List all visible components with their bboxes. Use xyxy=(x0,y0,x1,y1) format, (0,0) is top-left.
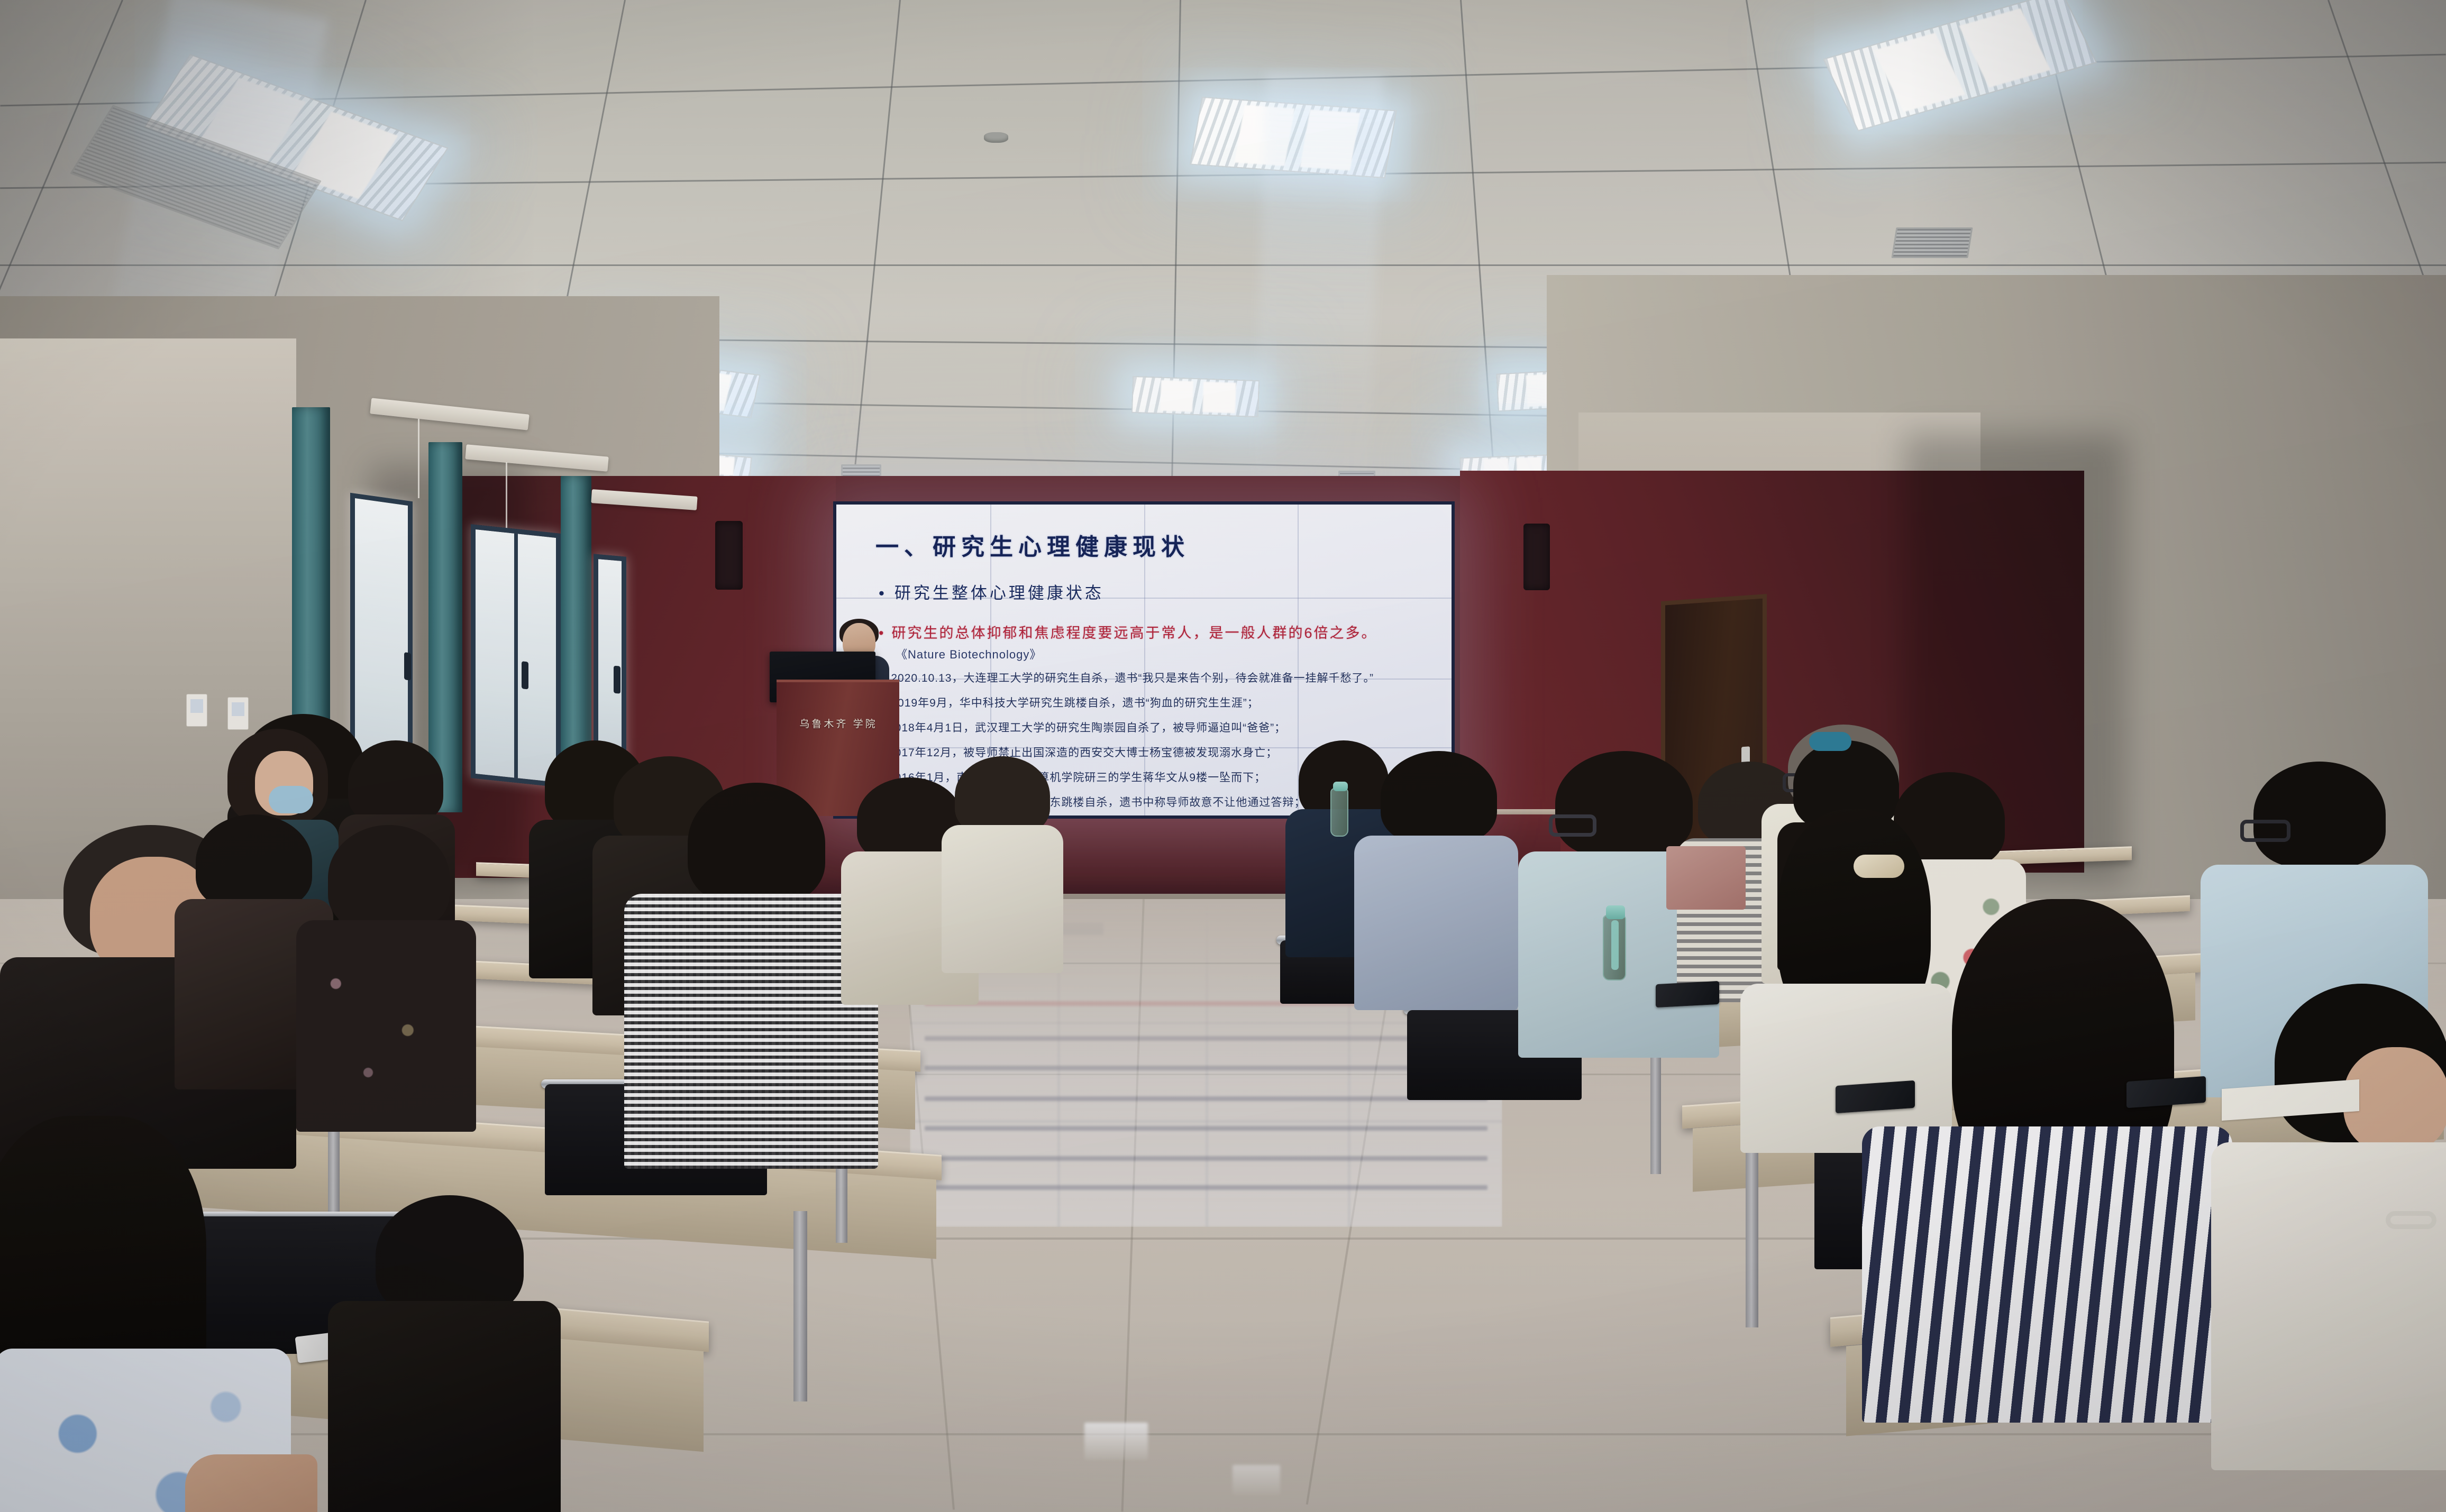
audience-member-striped-blouse xyxy=(1862,899,2232,1407)
audience-member-white-top xyxy=(2211,984,2446,1460)
slide-list-item: 2019年9月，华中科技大学研究生跳楼自杀，遗书“狗血的研究生生涯”； xyxy=(881,694,1436,710)
podium-name-plate: 乌鲁木齐 学院 xyxy=(784,715,893,734)
wall-speaker xyxy=(1523,524,1550,590)
smartphone[interactable] xyxy=(1656,981,1719,1007)
slide-bullet-highlight: 研究生的总体抑郁和焦虑程度要远高于常人，是一般人群的6倍之多。 xyxy=(879,621,1436,642)
smartphone[interactable] xyxy=(1836,1080,1915,1113)
bracelet xyxy=(2386,1211,2436,1229)
smartphone[interactable] xyxy=(2126,1076,2206,1108)
lecture-hall-photo: 一、研究生心理健康现状 研究生整体心理健康状态 研究生的总体抑郁和焦虑程度要远高… xyxy=(0,0,2446,1512)
audience-member xyxy=(942,756,1063,968)
eyeglasses-icon xyxy=(2240,820,2290,842)
eyeglasses-icon xyxy=(1549,814,1596,837)
wall-speaker xyxy=(715,521,743,590)
slide-bullet-main: 研究生整体心理健康状态 xyxy=(879,580,1436,603)
audience-member-blue-shirt xyxy=(1354,751,1518,1005)
audience-member xyxy=(328,1195,561,1512)
audience-member-lace-blouse xyxy=(0,1116,307,1512)
window[interactable] xyxy=(594,554,626,768)
slide-title: 一、研究生心理健康现状 xyxy=(875,528,1436,562)
audience-member-floral xyxy=(296,825,476,1121)
audience-member-checkered-shirt xyxy=(624,783,878,1163)
hair-bow xyxy=(1854,855,1904,878)
water-bottle[interactable] xyxy=(1603,915,1626,980)
slide-source-citation: 《Nature Biotechnology》 xyxy=(896,645,1436,662)
forearm xyxy=(185,1454,317,1512)
slide-list-item: 2020.10.13，大连理工大学的研究生自杀，遗书“我只是来告个别，待会就准备… xyxy=(881,670,1436,685)
handbag[interactable] xyxy=(1666,846,1746,910)
light-switch[interactable] xyxy=(186,694,207,727)
water-bottle[interactable] xyxy=(1330,788,1348,837)
face-mask xyxy=(269,786,313,813)
slide-list-item: 2018年4月1日，武汉理工大学的研究生陶崇园自杀了，被导师逼迫叫“爸爸”； xyxy=(888,719,1436,735)
hair-scrunchie xyxy=(1809,732,1851,751)
